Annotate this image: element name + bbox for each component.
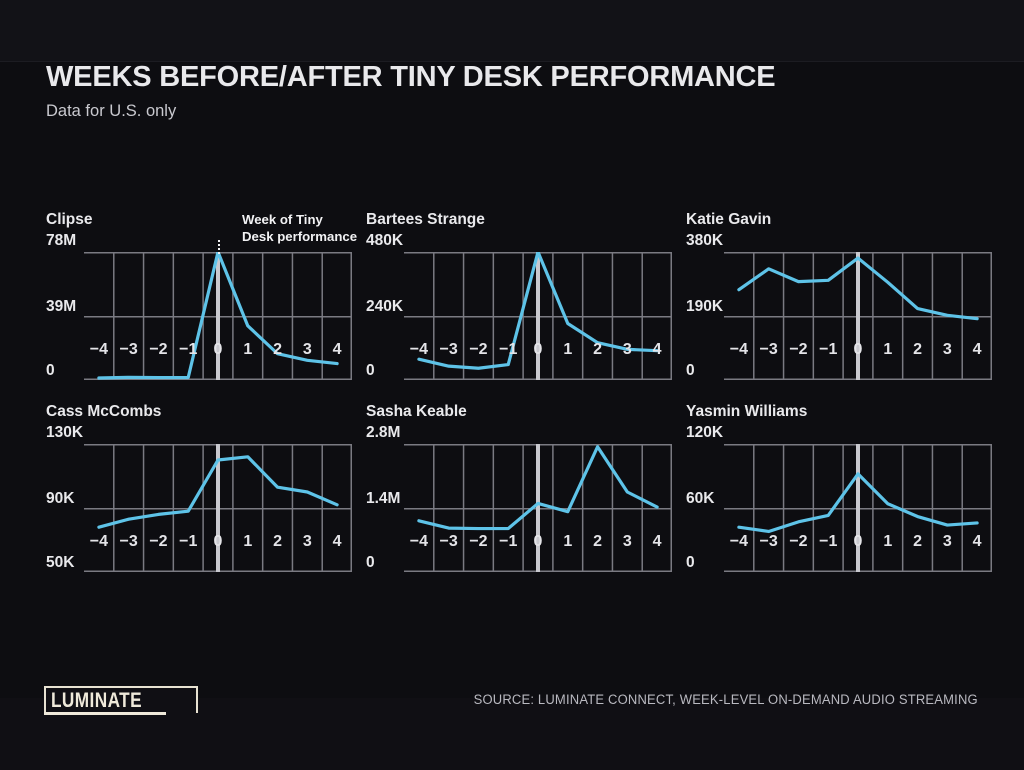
- x-tick-label: 1: [883, 534, 892, 550]
- luminate-logo-rule: [44, 712, 166, 715]
- x-tick-label: −3: [120, 534, 138, 550]
- panel-title: Bartees Strange: [366, 210, 674, 230]
- x-tick-label: 3: [303, 534, 312, 550]
- x-tick-label: −2: [789, 534, 807, 550]
- y-axis-min-label: 0: [686, 363, 695, 379]
- x-tick-label: −4: [730, 342, 748, 358]
- y-axis-mid-label: 39M: [46, 299, 76, 315]
- x-tick-label: 1: [243, 534, 252, 550]
- x-tick-label: 0: [214, 534, 223, 550]
- x-tick-label: 2: [273, 342, 282, 358]
- x-axis: −4−3−2−101234: [724, 340, 992, 366]
- page-title: WEEKS BEFORE/AFTER TINY DESK PERFORMANCE: [46, 62, 976, 94]
- y-axis-max-label: 2.8M: [366, 422, 674, 444]
- panel-title: Sasha Keable: [366, 402, 674, 422]
- y-axis-min-label: 0: [366, 555, 375, 571]
- x-tick-label: 3: [623, 342, 632, 358]
- annotation-line-2: Desk performance: [242, 229, 392, 246]
- chart-panel: Cass McCombs130K90K50K−4−3−2−101234: [46, 402, 354, 572]
- x-tick-label: 0: [534, 342, 543, 358]
- y-axis-mid-label: 1.4M: [366, 491, 400, 507]
- y-axis-min-label: 50K: [46, 555, 74, 571]
- x-axis: −4−3−2−101234: [404, 532, 672, 558]
- x-tick-label: −4: [730, 534, 748, 550]
- x-tick-label: −2: [149, 534, 167, 550]
- chart-panel: Yasmin Williams120K60K0−4−3−2−101234: [686, 402, 994, 572]
- y-axis-min-label: 0: [686, 555, 695, 571]
- y-axis-max-label: 130K: [46, 422, 354, 444]
- page-subtitle: Data for U.S. only: [46, 102, 976, 121]
- x-tick-label: −2: [469, 534, 487, 550]
- x-tick-label: 0: [214, 342, 223, 358]
- x-tick-label: −3: [120, 342, 138, 358]
- x-tick-label: −3: [440, 534, 458, 550]
- x-axis: −4−3−2−101234: [84, 340, 352, 366]
- x-tick-label: −1: [499, 342, 517, 358]
- y-axis-mid-label: 90K: [46, 491, 74, 507]
- x-tick-label: −1: [819, 534, 837, 550]
- x-tick-label: −2: [789, 342, 807, 358]
- x-tick-label: 4: [653, 342, 662, 358]
- x-axis: −4−3−2−101234: [404, 340, 672, 366]
- x-tick-label: 2: [913, 534, 922, 550]
- x-tick-label: 0: [854, 342, 863, 358]
- x-tick-label: 2: [913, 342, 922, 358]
- x-axis: −4−3−2−101234: [84, 532, 352, 558]
- x-tick-label: −1: [499, 534, 517, 550]
- x-tick-label: 4: [333, 342, 342, 358]
- x-tick-label: 4: [653, 534, 662, 550]
- y-axis-mid-label: 240K: [366, 299, 403, 315]
- x-tick-label: 1: [563, 534, 572, 550]
- y-axis-max-label: 120K: [686, 422, 994, 444]
- x-tick-label: 1: [883, 342, 892, 358]
- x-tick-label: 2: [273, 534, 282, 550]
- tiny-desk-annotation: Week of TinyDesk performance: [242, 212, 392, 245]
- panel-title: Cass McCombs: [46, 402, 354, 422]
- y-axis-mid-label: 190K: [686, 299, 723, 315]
- chart-panel: Katie Gavin380K190K0−4−3−2−101234: [686, 210, 994, 380]
- x-tick-label: 1: [563, 342, 572, 358]
- chart-panel: Clipse78M39M0Week of TinyDesk performanc…: [46, 210, 354, 380]
- header: WEEKS BEFORE/AFTER TINY DESK PERFORMANCE…: [46, 62, 976, 121]
- x-tick-label: 3: [303, 342, 312, 358]
- x-tick-label: 3: [943, 534, 952, 550]
- y-axis-min-label: 0: [46, 363, 55, 379]
- source-note: SOURCE: LUMINATE CONNECT, WEEK-LEVEL ON-…: [474, 692, 978, 707]
- y-axis-max-label: 480K: [366, 230, 674, 252]
- x-tick-label: −1: [819, 342, 837, 358]
- x-tick-label: −4: [90, 534, 108, 550]
- x-tick-label: −2: [469, 342, 487, 358]
- x-tick-label: 0: [854, 534, 863, 550]
- x-tick-label: 3: [623, 534, 632, 550]
- panel-title: Yasmin Williams: [686, 402, 994, 422]
- x-axis: −4−3−2−101234: [724, 532, 992, 558]
- footer: LUMINATE SOURCE: LUMINATE CONNECT, WEEK-…: [0, 698, 1024, 770]
- x-tick-label: 2: [593, 342, 602, 358]
- x-tick-label: −4: [410, 342, 428, 358]
- y-axis-mid-label: 60K: [686, 491, 714, 507]
- annotation-leader-line: [218, 240, 220, 254]
- x-tick-label: 4: [973, 342, 982, 358]
- small-multiples-grid: Clipse78M39M0Week of TinyDesk performanc…: [46, 210, 982, 572]
- y-axis-min-label: 0: [366, 363, 375, 379]
- x-tick-label: −2: [149, 342, 167, 358]
- x-tick-label: 4: [973, 534, 982, 550]
- chart-panel: Sasha Keable2.8M1.4M0−4−3−2−101234: [366, 402, 674, 572]
- luminate-logo-text: LUMINATE: [51, 690, 166, 712]
- x-tick-label: −3: [440, 342, 458, 358]
- y-axis-max-label: 380K: [686, 230, 994, 252]
- chart-panel: Bartees Strange480K240K0−4−3−2−101234: [366, 210, 674, 380]
- x-tick-label: −1: [179, 342, 197, 358]
- luminate-logo: LUMINATE: [44, 686, 198, 713]
- infographic-page: WEEKS BEFORE/AFTER TINY DESK PERFORMANCE…: [0, 0, 1024, 770]
- panel-title: Katie Gavin: [686, 210, 994, 230]
- x-tick-label: 2: [593, 534, 602, 550]
- x-tick-label: −1: [179, 534, 197, 550]
- annotation-line-1: Week of Tiny: [242, 212, 392, 229]
- letterbox-top: [0, 0, 1024, 62]
- x-tick-label: −3: [760, 534, 778, 550]
- x-tick-label: −4: [410, 534, 428, 550]
- x-tick-label: 0: [534, 534, 543, 550]
- x-tick-label: 1: [243, 342, 252, 358]
- x-tick-label: 4: [333, 534, 342, 550]
- x-tick-label: −3: [760, 342, 778, 358]
- x-tick-label: −4: [90, 342, 108, 358]
- x-tick-label: 3: [943, 342, 952, 358]
